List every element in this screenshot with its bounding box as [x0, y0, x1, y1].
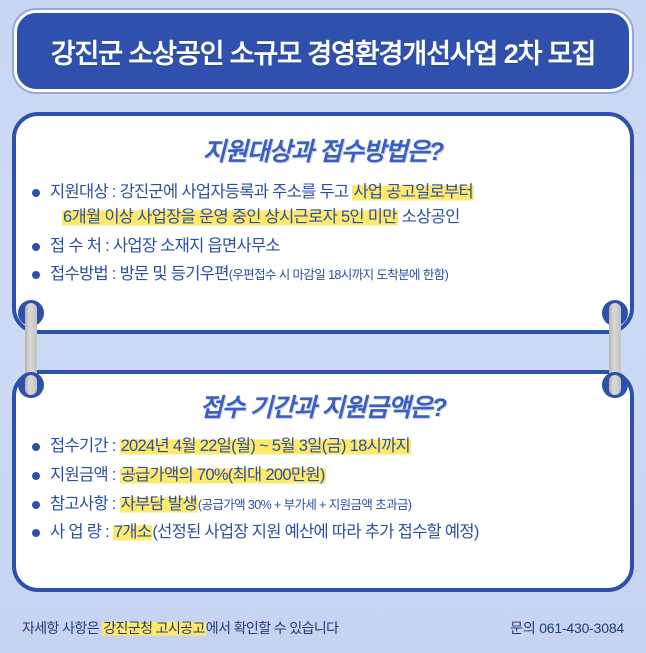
- list-item: 지원대상 : 강진군에 사업자등록과 주소를 두고 사업 공고일로부터 6개월 …: [16, 180, 630, 230]
- bullet-text-plain: 지원대상 : 강진군에 사업자등록과 주소를 두고: [50, 183, 352, 201]
- card-support-target: 지원대상과 접수방법은? 지원대상 : 강진군에 사업자등록과 주소를 두고 사…: [12, 112, 634, 334]
- paper-clip-icon-left: [16, 300, 46, 398]
- poster-root: 강진군 소상공인 소규모 경영환경개선사업 2차 모집 지원대상과 접수방법은?…: [0, 0, 646, 653]
- bullet-line-1: 지원금액 : 공급가액의 70%(최대 200만원): [50, 463, 630, 488]
- bullet-line-1: 접수기간 : 2024년 4월 22일(월) ~ 5월 3일(금) 18시까지: [50, 434, 630, 459]
- bullet-text-highlight: 공급가액의 70%(최대 200만원): [120, 466, 326, 484]
- bullet-text-plain: 접수방법 : 방문 및 등기우편: [50, 265, 229, 283]
- list-item: 접수방법 : 방문 및 등기우편(우편접수 시 마감일 18시까지 도착분에 한…: [16, 262, 630, 287]
- bullet-text-plain: 소상공인: [398, 208, 460, 226]
- bullet-note: (공급가액 30% + 부가세 + 지원금액 초과금): [198, 498, 412, 512]
- bullet-text-highlight: 자부담 발생: [120, 495, 198, 513]
- list-item: 지원금액 : 공급가액의 70%(최대 200만원): [16, 463, 630, 488]
- header-pill: 강진군 소상공인 소규모 경영환경개선사업 2차 모집: [14, 10, 632, 92]
- card-period-amount: 접수 기간과 지원금액은? 접수기간 : 2024년 4월 22일(월) ~ 5…: [12, 370, 634, 592]
- footer: 자세항 사항은 강진군청 고시공고에서 확인할 수 있습니다 문의 061-43…: [0, 615, 646, 641]
- bullet-text-plain: (선정된 사업장 지원 예산에 따라 추가 접수할 예정): [152, 523, 478, 541]
- footer-note-highlight: 강진군청 고시공고: [102, 620, 206, 636]
- bullet-dot-icon: [32, 189, 40, 197]
- bullet-dot-icon: [32, 243, 40, 251]
- bullet-dot-icon: [32, 271, 40, 279]
- card-2-bullet-list: 접수기간 : 2024년 4월 22일(월) ~ 5월 3일(금) 18시까지 …: [16, 434, 630, 545]
- header-banner: 강진군 소상공인 소규모 경영환경개선사업 2차 모집: [14, 10, 632, 92]
- bullet-dot-icon: [32, 529, 40, 537]
- footer-note-suffix: 에서 확인할 수 있습니다: [206, 620, 339, 636]
- bullet-line-1: 참고사항 : 자부담 발생(공급가액 30% + 부가세 + 지원금액 초과금): [50, 492, 630, 517]
- bullet-label: 지원금액 :: [50, 466, 120, 484]
- clip-ring-bottom: [18, 372, 44, 398]
- bullet-text-highlight: 사업 공고일로부터: [352, 183, 474, 201]
- card-1-title: 지원대상과 접수방법은?: [16, 132, 630, 168]
- bullet-dot-icon: [32, 472, 40, 480]
- bullet-dot-icon: [32, 501, 40, 509]
- card-1-bullet-list: 지원대상 : 강진군에 사업자등록과 주소를 두고 사업 공고일로부터 6개월 …: [16, 180, 630, 287]
- bullet-text-highlight: 2024년 4월 22일(월) ~ 5월 3일(금) 18시까지: [120, 437, 411, 455]
- bullet-note: (우편접수 시 마감일 18시까지 도착분에 한함): [229, 268, 449, 282]
- bullet-line-1: 사 업 량 : 7개소(선정된 사업장 지원 예산에 따라 추가 접수할 예정): [50, 520, 630, 545]
- paper-clip-icon-right: [600, 300, 630, 398]
- list-item: 사 업 량 : 7개소(선정된 사업장 지원 예산에 따라 추가 접수할 예정): [16, 520, 630, 545]
- card-2-title: 접수 기간과 지원금액은?: [16, 388, 630, 424]
- bullet-text-highlight: 6개월 이상 사업장을 운영 중인 상시근로자 5인 미만: [62, 208, 398, 226]
- list-item: 접수기간 : 2024년 4월 22일(월) ~ 5월 3일(금) 18시까지: [16, 434, 630, 459]
- bullet-label: 참고사항 :: [50, 495, 120, 513]
- bullet-label: 접수기간 :: [50, 437, 120, 455]
- footer-note: 자세항 사항은 강진군청 고시공고에서 확인할 수 있습니다: [22, 618, 338, 638]
- bullet-dot-icon: [32, 443, 40, 451]
- contact-phone: 문의 061-430-3084: [510, 618, 624, 638]
- bullet-line-1: 접수방법 : 방문 및 등기우편(우편접수 시 마감일 18시까지 도착분에 한…: [50, 262, 630, 287]
- list-item: 참고사항 : 자부담 발생(공급가액 30% + 부가세 + 지원금액 초과금): [16, 492, 630, 517]
- bullet-text-plain: 접 수 처 : 사업장 소재지 읍면사무소: [50, 234, 630, 259]
- bullet-line-1: 지원대상 : 강진군에 사업자등록과 주소를 두고 사업 공고일로부터: [50, 180, 630, 205]
- list-item: 접 수 처 : 사업장 소재지 읍면사무소: [16, 234, 630, 259]
- bullet-label: 사 업 량 :: [50, 523, 113, 541]
- bullet-line-2: 6개월 이상 사업장을 운영 중인 상시근로자 5인 미만 소상공인: [50, 205, 630, 230]
- bullet-text-highlight: 7개소: [113, 523, 152, 541]
- clip-ring-bottom: [602, 372, 628, 398]
- footer-note-prefix: 자세항 사항은: [22, 620, 102, 636]
- page-title: 강진군 소상공인 소규모 경영환경개선사업 2차 모집: [51, 32, 595, 71]
